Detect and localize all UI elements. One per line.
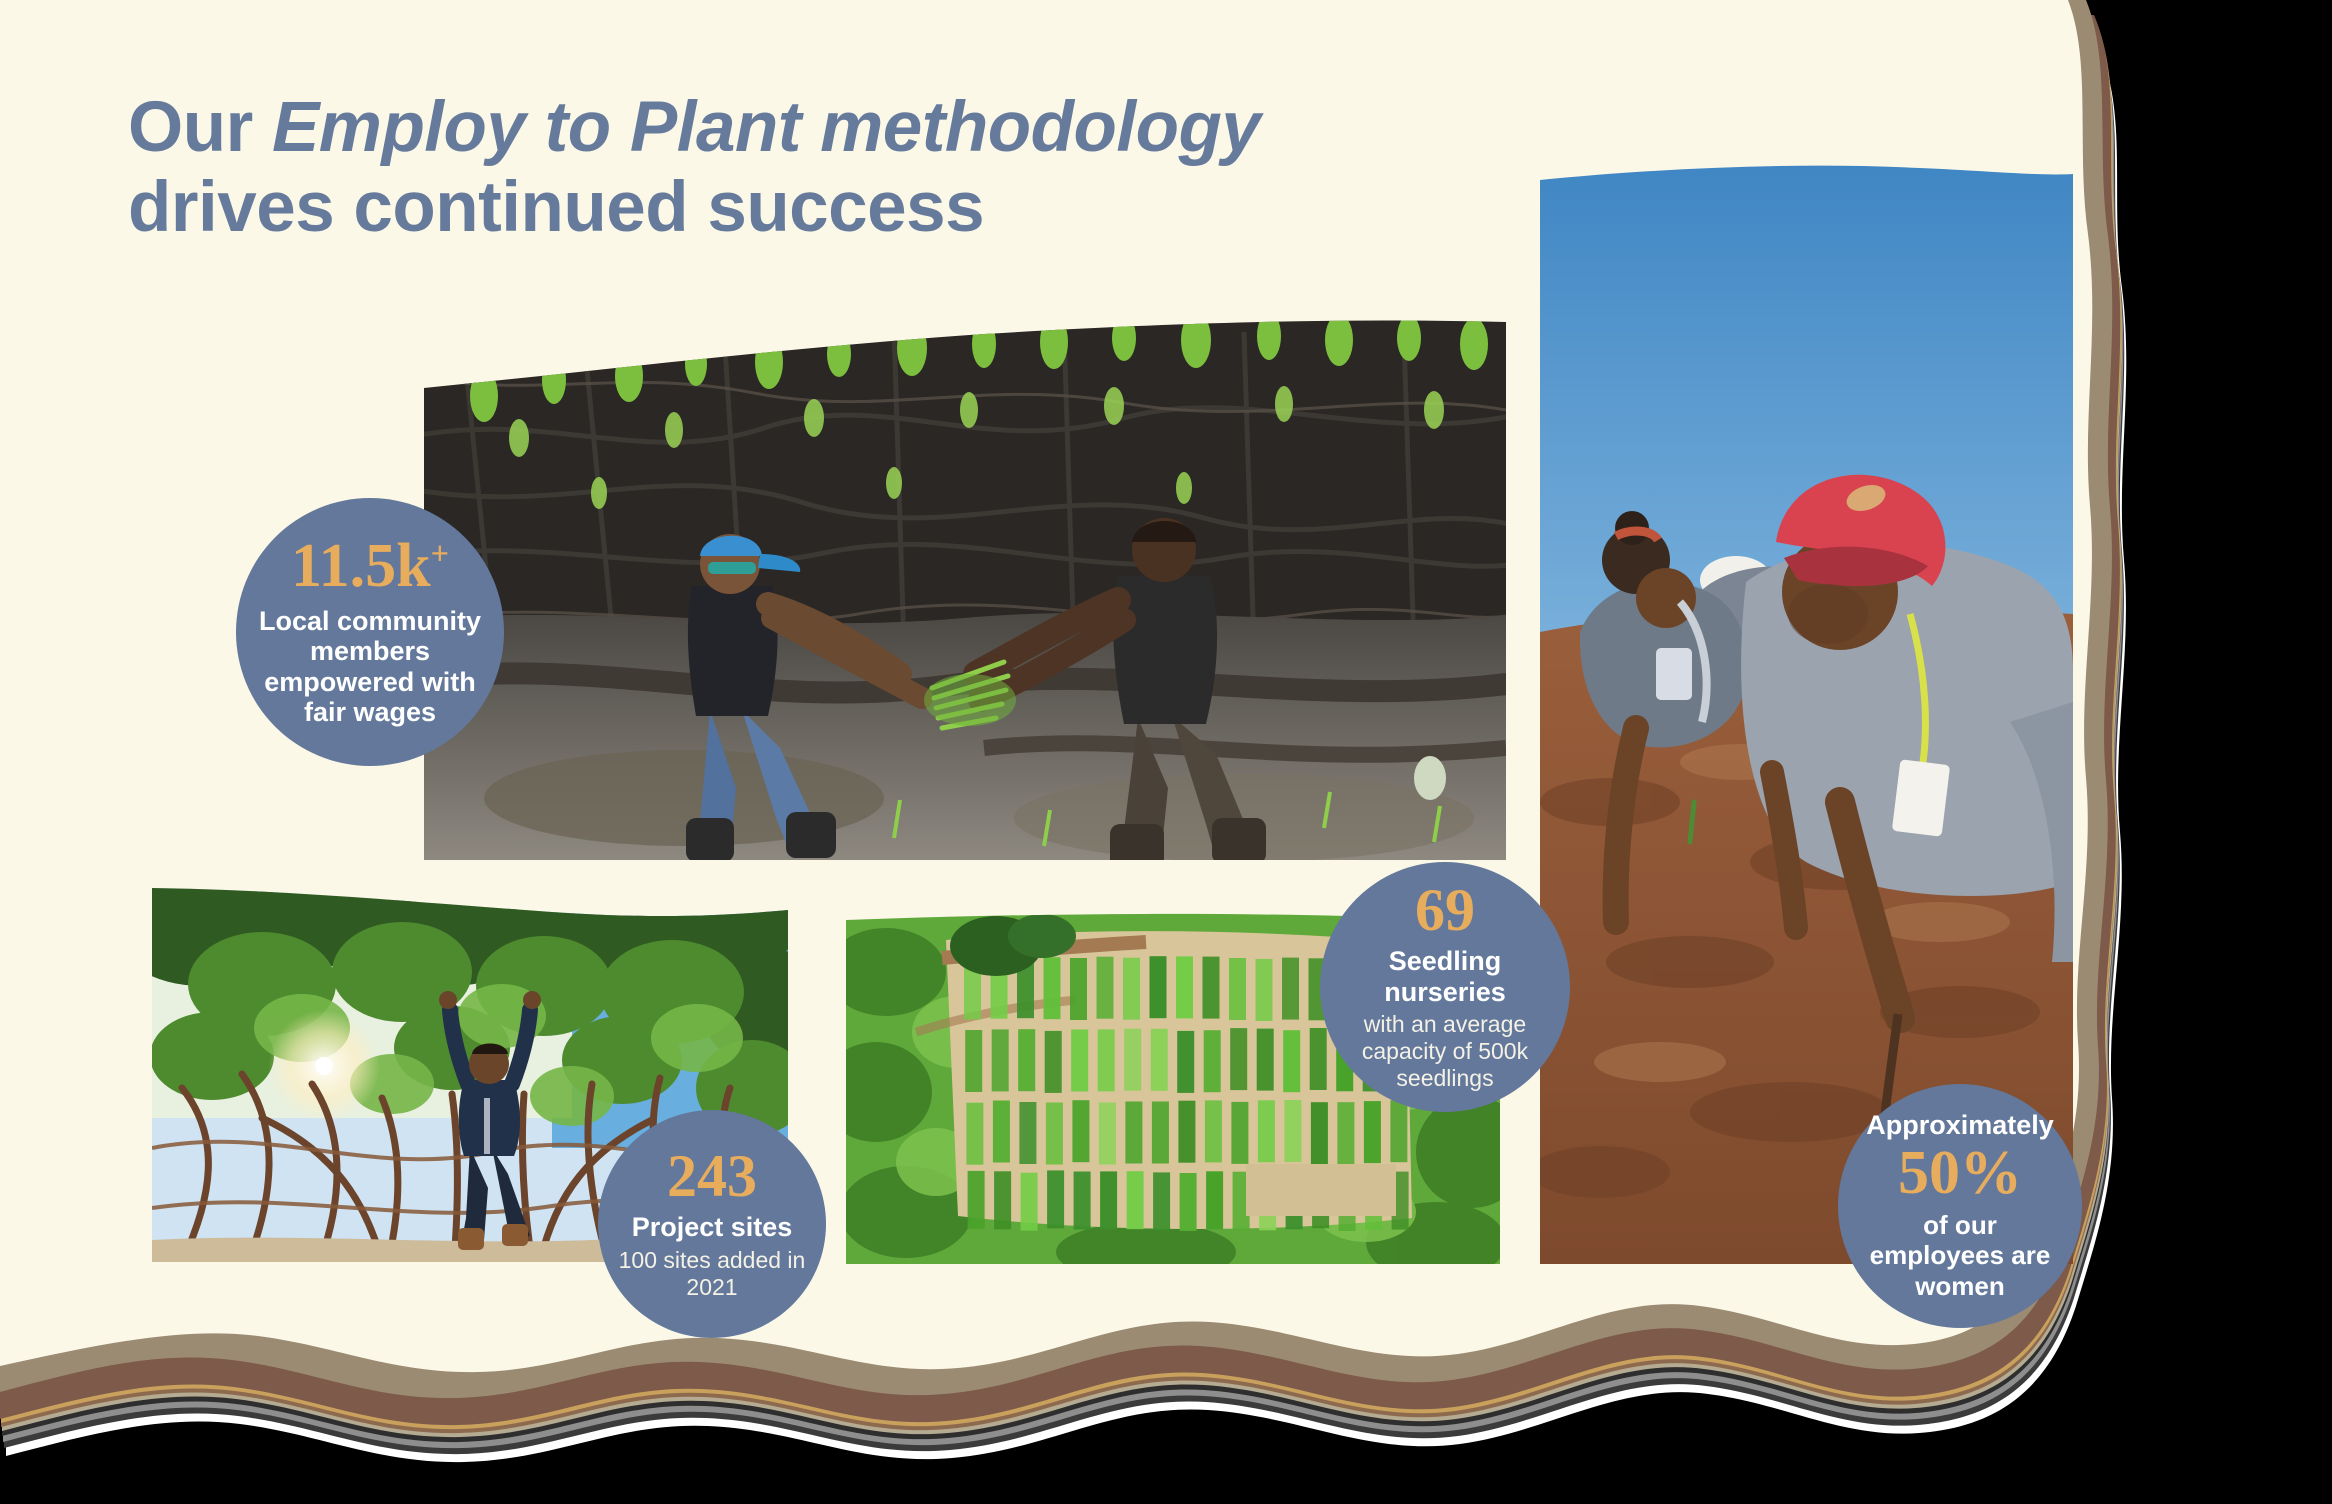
stat-bubble-project-sites: 243 Project sites 100 sites added in 202… [598,1110,826,1338]
stat-superscript: + [431,535,449,571]
slide-canvas: Our Employ to Plant methodology drives c… [0,0,2332,1504]
stat-number: 11.5k+ [291,536,449,597]
stat-sublabel: 100 sites added in 2021 [614,1247,810,1301]
stat-label: Project sites [632,1212,793,1243]
page-title: Our Employ to Plant methodology drives c… [128,88,1388,247]
stat-label: Seedling nurseries [1336,946,1554,1007]
stat-number: 69 [1415,881,1475,940]
mangrove-planting-photo [424,318,1506,860]
headline-part-2-italic: Employ to Plant methodology [272,88,1260,167]
stat-label: Local community members empowered with f… [258,606,482,728]
stat-number: 243 [667,1147,757,1206]
stat-bubble-community-members: 11.5k+ Local community members empowered… [236,498,504,766]
stat-bubble-women-employees: Approximately 50% of our employees are w… [1838,1084,2082,1328]
stat-prefix: Approximately [1866,1110,2054,1141]
stat-bubble-seedling-nurseries: 69 Seedling nurseries with an average ca… [1320,862,1570,1112]
headline-part-1: Our [128,88,272,167]
stat-sublabel: with an average capacity of 500k seedlin… [1336,1011,1554,1092]
stat-number: 50% [1898,1143,2022,1204]
headline-part-3: drives continued success [128,168,984,247]
stat-sublabel: of our employees are women [1854,1210,2066,1302]
